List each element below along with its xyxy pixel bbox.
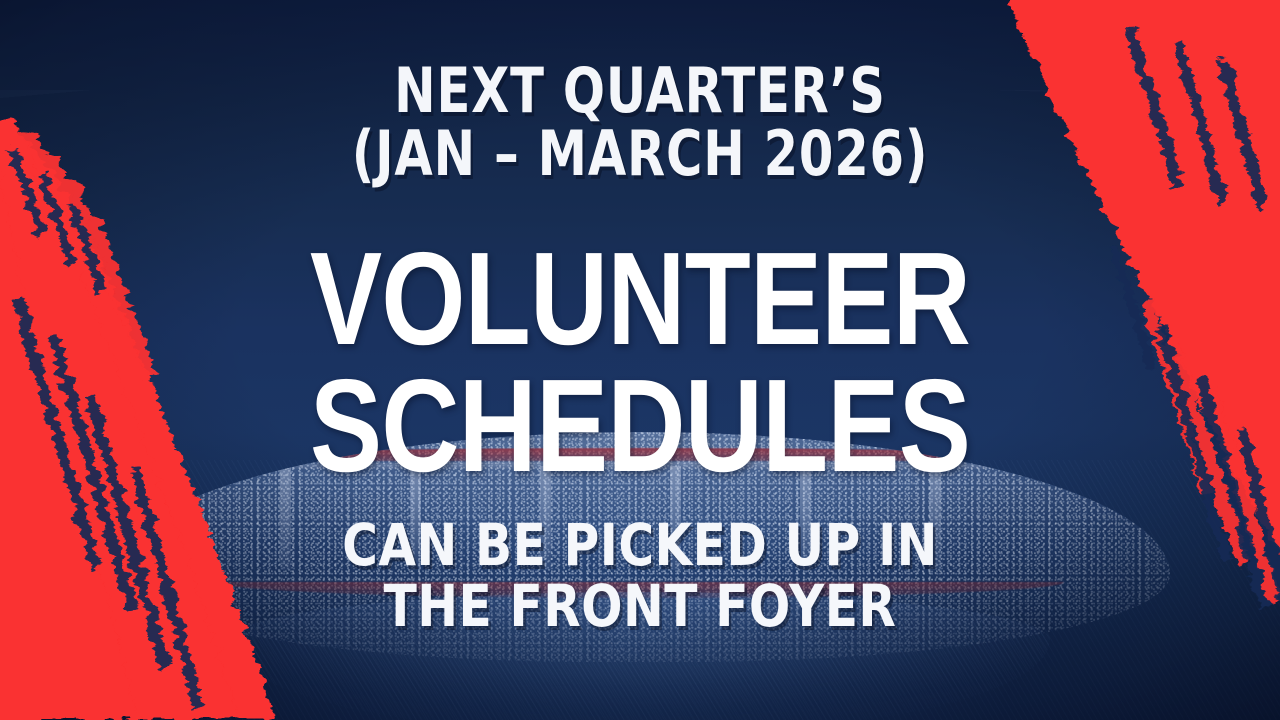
poster-canvas: NEXT QUARTER’S (JAN – MARCH 2026) VOLUNT… [0,0,1280,720]
subline-line-2: THE FRONT FOYER [102,577,1177,636]
main-headline: VOLUNTEER SCHEDULES [115,236,1165,489]
headline-line-2: SCHEDULES [115,363,1165,490]
eyebrow-heading: NEXT QUARTER’S (JAN – MARCH 2026) [128,62,1152,182]
eyebrow-line-2: (JAN – MARCH 2026) [128,125,1152,182]
sub-heading: CAN BE PICKED UP IN THE FRONT FOYER [102,516,1177,636]
headline-line-1: VOLUNTEER [310,225,970,372]
subline-line-1: CAN BE PICKED UP IN [342,511,938,579]
